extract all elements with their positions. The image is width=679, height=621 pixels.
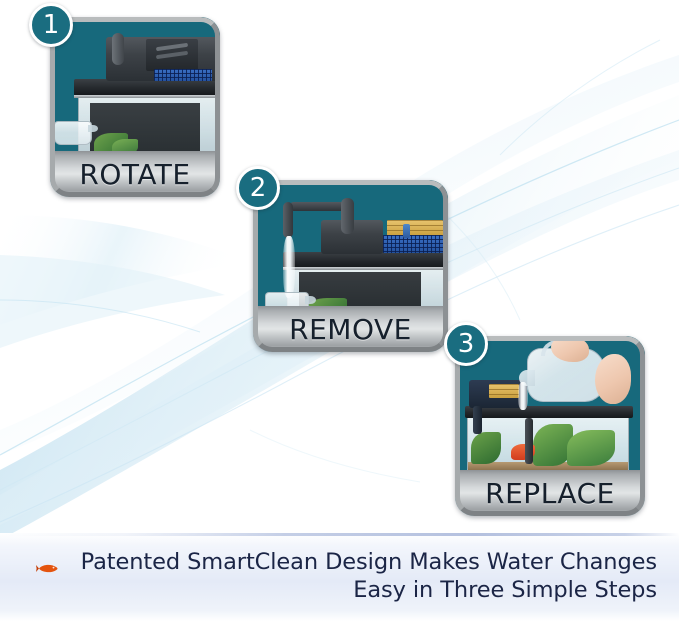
cartridge-clip xyxy=(403,224,410,238)
filter-cartridge xyxy=(387,220,443,236)
caption-line-1: Patented SmartClean Design Makes Water C… xyxy=(0,548,657,576)
step-2-label-band: REMOVE xyxy=(253,306,448,352)
step-badge-1: 1 xyxy=(29,3,73,47)
filter-mesh-grid xyxy=(154,69,212,81)
step-panel-2: REMOVE xyxy=(253,180,448,352)
pouring-water-stream xyxy=(518,382,528,410)
step-3-label-band: REPLACE xyxy=(455,470,645,516)
tank-rim-highlight xyxy=(74,95,220,98)
aquarium-heater xyxy=(525,418,533,464)
water-pitcher xyxy=(265,292,309,306)
rotation-knob xyxy=(112,33,124,65)
step-badge-3: 3 xyxy=(444,322,488,366)
drain-spout-elbow xyxy=(283,202,293,238)
draining-water-stream xyxy=(283,236,295,298)
infographic-canvas: ROTATE 1 xyxy=(0,0,679,621)
step-2-artwork xyxy=(253,180,448,306)
filter-intake-tube xyxy=(473,406,482,434)
caption-divider xyxy=(0,533,679,536)
aquarium-plant-right xyxy=(567,430,615,466)
step-1-artwork xyxy=(50,17,220,151)
step-number-3: 3 xyxy=(458,331,475,357)
filter-cartridge xyxy=(489,384,519,398)
tank-top-rim xyxy=(283,252,448,268)
step-1-label-band: ROTATE xyxy=(50,151,220,197)
step-2-label: REMOVE xyxy=(289,313,412,346)
step-panel-1: ROTATE xyxy=(50,17,220,197)
pitcher-spout xyxy=(88,125,98,132)
filter-mesh-basket xyxy=(383,235,443,253)
drain-spout-neck xyxy=(341,198,354,234)
water-pitcher xyxy=(54,121,92,145)
step-panel-3: REPLACE xyxy=(455,336,645,516)
step-number-2: 2 xyxy=(250,175,267,201)
step-badge-2: 2 xyxy=(236,166,280,210)
step-number-1: 1 xyxy=(43,12,60,38)
step-3-label: REPLACE xyxy=(485,477,615,510)
aquarium-plant-left xyxy=(471,432,501,464)
step-1-label: ROTATE xyxy=(79,158,190,191)
hand-right xyxy=(595,354,631,404)
aquarium-plant-leaf xyxy=(112,139,138,151)
caption-line-2: Easy in Three Simple Steps xyxy=(0,576,657,604)
tank-top-rim xyxy=(74,79,220,96)
tank-rim-highlight xyxy=(283,267,448,270)
pitcher-spout xyxy=(305,296,316,304)
caption-text-block: Patented SmartClean Design Makes Water C… xyxy=(0,548,679,604)
